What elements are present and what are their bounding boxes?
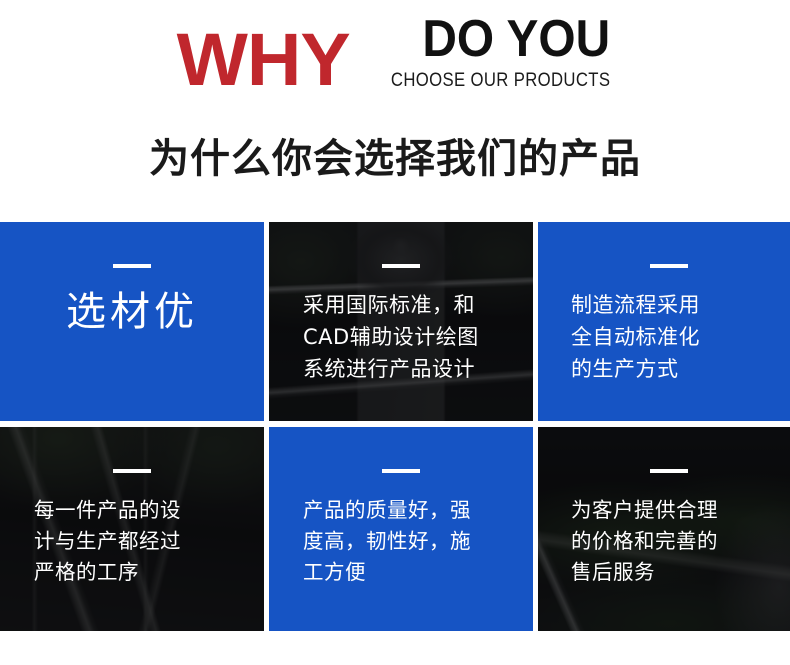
headline-subtitle-chinese: 为什么你会选择我们的产品 bbox=[0, 126, 790, 184]
feature-grid: 选材优 采用国际标准，和 CAD辅助设计绘图 系统进行产品设计 制造流程采用 全… bbox=[0, 222, 790, 665]
headline-highlight-why: WHY bbox=[176, 26, 349, 94]
feature-cell-6[interactable]: 为客户提供合理 的价格和完善的 售后服务 bbox=[538, 427, 790, 631]
headline-row: WHY DO YOU CHOOSE OUR PRODUCTS bbox=[0, 14, 790, 94]
feature-cell-5-text: 产品的质量好，强 度高，韧性好，施 工方便 bbox=[303, 495, 499, 587]
feature-cell-1[interactable]: 选材优 bbox=[0, 222, 264, 421]
headline-tagline: CHOOSE OUR PRODUCTS bbox=[391, 71, 610, 92]
feature-cell-2-text: 采用国际标准，和 CAD辅助设计绘图 系统进行产品设计 bbox=[303, 290, 499, 386]
feature-cell-5[interactable]: 产品的质量好，强 度高，韧性好，施 工方便 bbox=[269, 427, 533, 631]
feature-cell-4[interactable]: 每一件产品的设 计与生产都经过 严格的工序 bbox=[0, 427, 264, 631]
feature-cell-4-text: 每一件产品的设 计与生产都经过 严格的工序 bbox=[34, 495, 230, 587]
divider-dash-icon bbox=[650, 469, 688, 473]
divider-dash-icon bbox=[382, 469, 420, 473]
divider-dash-icon bbox=[113, 469, 151, 473]
divider-dash-icon bbox=[650, 264, 688, 268]
divider-dash-icon bbox=[382, 264, 420, 268]
feature-cell-2[interactable]: 采用国际标准，和 CAD辅助设计绘图 系统进行产品设计 bbox=[269, 222, 533, 421]
feature-cell-6-text: 为客户提供合理 的价格和完善的 售后服务 bbox=[571, 495, 767, 587]
headline-rest-do-you: DO YOU bbox=[423, 15, 611, 64]
promo-banner: WHY DO YOU CHOOSE OUR PRODUCTS 为什么你会选择我们… bbox=[0, 0, 790, 665]
feature-cell-3-text: 制造流程采用 全自动标准化 的生产方式 bbox=[571, 290, 767, 386]
feature-cell-1-text: 选材优 bbox=[66, 290, 198, 334]
feature-cell-3[interactable]: 制造流程采用 全自动标准化 的生产方式 bbox=[538, 222, 790, 421]
banner-header: WHY DO YOU CHOOSE OUR PRODUCTS 为什么你会选择我们… bbox=[0, 0, 790, 222]
divider-dash-icon bbox=[113, 264, 151, 268]
headline-right-stack: DO YOU CHOOSE OUR PRODUCTS bbox=[361, 15, 610, 94]
